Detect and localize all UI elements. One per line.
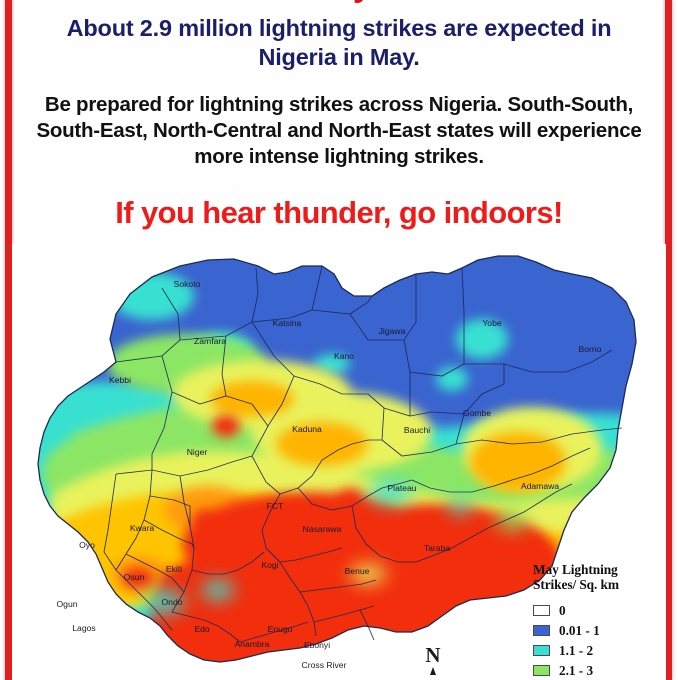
legend-swatch: [533, 665, 550, 676]
state-label: Anambra: [235, 639, 270, 649]
legend-row: 1.1 - 2: [533, 642, 661, 660]
legend-row: 2.1 - 3: [533, 662, 661, 680]
right-red-rule: [665, 0, 672, 680]
preparedness-text: Be prepared for lightning strikes across…: [22, 92, 656, 169]
state-label: Ekiti: [166, 564, 182, 574]
legend-items: 00.01 - 11.1 - 22.1 - 3: [533, 602, 661, 680]
legend-row: 0: [533, 602, 661, 620]
state-label: Kano: [334, 351, 354, 361]
state-label: Niger: [187, 447, 208, 457]
state-label: FCT: [267, 501, 284, 511]
state-label: Cross River: [302, 660, 347, 670]
call-to-action: If you hear thunder, go indoors!: [20, 196, 658, 230]
legend-title: May Lightning Strikes/ Sq. km: [533, 562, 661, 593]
state-label: Ondo: [161, 597, 182, 607]
north-arrow: N: [418, 645, 448, 675]
state-label: Ebonyi: [304, 640, 330, 650]
headline: About 2.9 million lightning strikes are …: [28, 14, 650, 71]
state-label: Yobe: [482, 318, 502, 328]
legend-swatch: [533, 625, 550, 636]
state-label: Osun: [124, 572, 145, 582]
legend-title-line1: May Lightning: [533, 562, 661, 577]
legend-title-line2: Strikes/ Sq. km: [533, 577, 661, 592]
state-label: Bauchi: [404, 425, 430, 435]
state-label: Enugu: [268, 624, 293, 634]
legend-row: 0.01 - 1: [533, 622, 661, 640]
state-label: Jigawa: [379, 326, 406, 336]
state-label: Nasarawa: [303, 524, 342, 534]
state-label: Edo: [194, 624, 210, 634]
legend-label: 2.1 - 3: [559, 663, 593, 679]
left-red-rule: [5, 0, 12, 680]
legend-swatch: [533, 645, 550, 656]
state-label: Sokoto: [174, 279, 201, 289]
legend-label: 0: [559, 603, 566, 619]
state-label: Adamawa: [521, 481, 559, 491]
state-label: Plateau: [387, 483, 416, 493]
lightning-infographic-poster: May About 2.9 million lightning strikes …: [0, 0, 678, 680]
poster-text-content: About 2.9 million lightning strikes are …: [16, 0, 662, 230]
state-label: Ogun: [56, 599, 77, 609]
map-legend: May Lightning Strikes/ Sq. km 00.01 - 11…: [533, 562, 661, 680]
state-label: Oyo: [79, 540, 95, 550]
state-label: Zamfara: [194, 336, 226, 346]
state-label: Kwara: [130, 523, 155, 533]
north-arrow-label: N: [418, 645, 448, 666]
legend-label: 1.1 - 2: [559, 643, 593, 659]
state-label: Kogi: [261, 560, 278, 570]
state-label: Lagos: [72, 623, 95, 633]
state-label: Gombe: [463, 408, 491, 418]
state-label: Kebbi: [109, 375, 131, 385]
state-label: Benue: [345, 566, 370, 576]
legend-swatch: [533, 605, 550, 616]
north-arrow-glyph: [430, 667, 436, 675]
state-label: Katsina: [273, 318, 302, 328]
legend-label: 0.01 - 1: [559, 623, 600, 639]
state-label: Borno: [579, 344, 602, 354]
state-label: Kaduna: [292, 424, 322, 434]
state-label: Taraba: [424, 543, 450, 553]
